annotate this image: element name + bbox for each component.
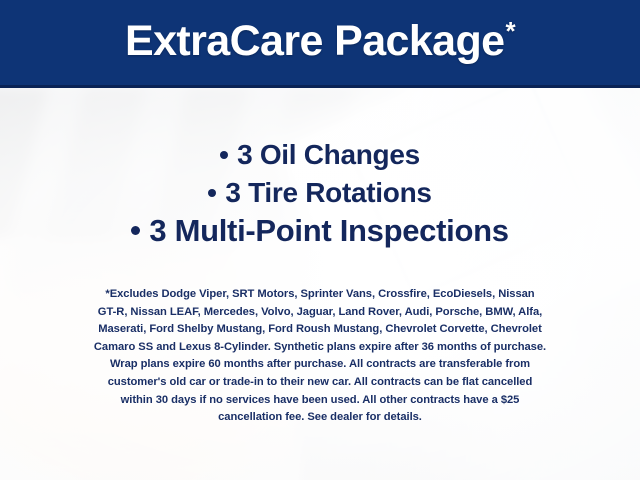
bullet-icon [220, 151, 228, 159]
disclaimer-line: GT-R, Nissan LEAF, Mercedes, Volvo, Jagu… [24, 304, 616, 322]
disclaimer-line: within 30 days if no services have been … [24, 392, 616, 410]
extracare-promo-card: ExtraCare Package* 3 Oil Changes 3 Tire … [0, 0, 640, 480]
disclaimer-line: Wrap plans expire 60 months after purcha… [24, 356, 616, 374]
benefit-item-tire-rotations: 3 Tire Rotations [0, 174, 640, 212]
disclaimer-line: cancellation fee. See dealer for details… [24, 409, 616, 427]
benefit-label: 3 Tire Rotations [225, 177, 431, 208]
benefit-label: 3 Oil Changes [237, 139, 420, 170]
page-title-text: ExtraCare Package [125, 17, 504, 65]
disclaimer-line: Camaro SS and Lexus 8-Cylinder. Syntheti… [24, 339, 616, 357]
disclaimer-line: customer's old car or trade-in to their … [24, 374, 616, 392]
disclaimer-line: *Excludes Dodge Viper, SRT Motors, Sprin… [24, 286, 616, 304]
title-asterisk: * [505, 16, 515, 46]
bullet-icon [131, 226, 140, 235]
benefits-list: 3 Oil Changes 3 Tire Rotations 3 Multi-P… [0, 136, 640, 250]
benefit-item-oil-changes: 3 Oil Changes [0, 136, 640, 174]
page-title: ExtraCare Package* [125, 20, 515, 63]
benefit-label: 3 Multi-Point Inspections [149, 213, 508, 248]
disclaimer-line: Maserati, Ford Shelby Mustang, Ford Rous… [24, 321, 616, 339]
bullet-icon [208, 189, 216, 197]
benefit-item-multi-point-inspections: 3 Multi-Point Inspections [0, 212, 640, 250]
header-banner: ExtraCare Package* [0, 0, 640, 88]
disclaimer-text: *Excludes Dodge Viper, SRT Motors, Sprin… [24, 286, 616, 427]
